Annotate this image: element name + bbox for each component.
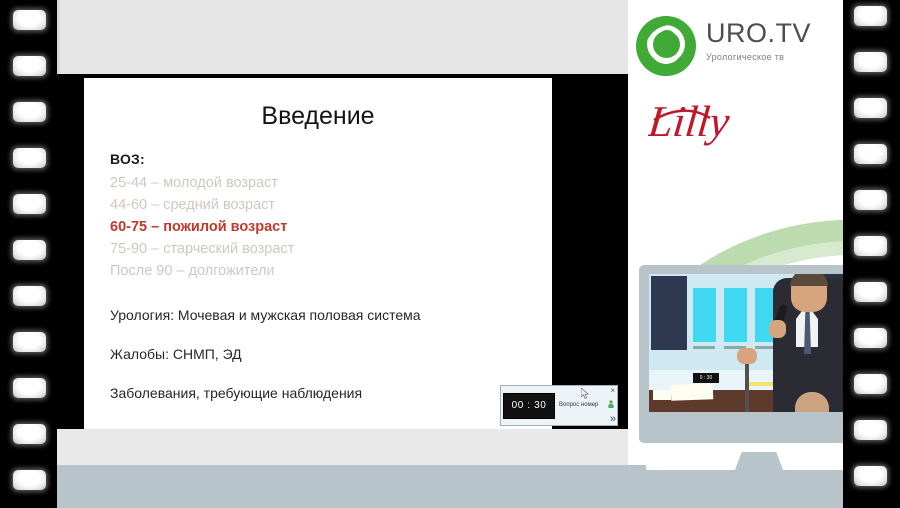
slide-title: Введение	[84, 102, 552, 131]
age-group-line: 75-90 – старческий возраст	[110, 238, 530, 260]
timer-label-area: Вопрос номер	[557, 386, 601, 425]
monitor-stand	[735, 452, 783, 470]
age-group-line: 44-60 – средний возраст	[110, 194, 530, 216]
left-gray-edge	[57, 0, 60, 74]
who-heading: ВОЗ:	[110, 151, 530, 167]
film-perforation	[854, 236, 887, 256]
age-group-line: После 90 – долгожители	[110, 260, 530, 282]
countdown-clock: 00 : 30	[503, 393, 555, 419]
film-perforation	[13, 378, 46, 398]
mouse-cursor-icon	[581, 388, 589, 399]
diseases-line: Заболевания, требующие наблюдения	[110, 385, 530, 401]
film-perforation	[854, 328, 887, 348]
svg-text:Lilly: Lilly	[648, 97, 732, 146]
film-perforation	[13, 194, 46, 214]
uro-tv-wordmark: URO.TV	[706, 20, 811, 47]
projected-timer: 0 : 30	[693, 373, 719, 383]
timer-display-area: 00 : 30	[501, 386, 557, 425]
age-group-line: 25-44 – молодой возраст	[110, 172, 530, 194]
complaints-line: Жалобы: СНМП, ЭД	[110, 346, 530, 362]
film-perforation	[13, 10, 46, 30]
desk-surface	[57, 465, 843, 508]
film-perforation	[13, 286, 46, 306]
timer-widget-controls[interactable]: × »	[601, 386, 617, 425]
video-name-card	[671, 383, 714, 400]
monitor-bezel: 0 : 30	[639, 265, 854, 443]
film-perforation	[854, 98, 887, 118]
video-player-stage: URO.TV Урологическое тв Lilly Введение В…	[0, 0, 900, 508]
film-strip-right	[843, 0, 900, 508]
film-perforation	[13, 332, 46, 352]
film-perforation	[13, 102, 46, 122]
video-pointer-stick	[745, 356, 749, 412]
film-perforation	[13, 148, 46, 168]
presenter-hand-2	[737, 348, 757, 364]
presenter-hair	[790, 274, 828, 286]
uro-tv-tagline: Урологическое тв	[706, 52, 811, 62]
presentation-slide: Введение ВОЗ: 25-44 – молодой возраст 44…	[84, 78, 552, 429]
video-legend-bar	[745, 382, 775, 386]
film-perforation	[854, 144, 887, 164]
film-perforation	[854, 190, 887, 210]
question-number-label: Вопрос номер	[559, 402, 598, 408]
film-perforation	[854, 374, 887, 394]
uro-swirl-icon	[636, 16, 696, 76]
film-perforation	[13, 424, 46, 444]
age-group-line-highlighted: 60-75 – пожилой возраст	[110, 216, 530, 238]
presenter-video[interactable]: 0 : 30	[649, 274, 844, 412]
film-strip-left	[0, 0, 57, 508]
film-perforation	[13, 56, 46, 76]
film-perforation	[13, 240, 46, 260]
video-paper	[653, 390, 671, 400]
person-green-icon[interactable]	[608, 400, 614, 408]
uro-tv-logo: URO.TV Урологическое тв	[636, 14, 842, 80]
film-perforation	[854, 466, 887, 486]
presenter-hand	[769, 320, 786, 338]
film-perforation	[854, 6, 887, 26]
film-perforation	[13, 470, 46, 490]
question-timer-widget[interactable]: 00 : 30 Вопрос номер × »	[500, 385, 618, 426]
slide-body: ВОЗ: 25-44 – молодой возраст 44-60 – сре…	[110, 151, 530, 401]
lilly-logo: Lilly	[648, 90, 828, 152]
film-perforation	[854, 52, 887, 72]
next-chevron-icon[interactable]: »	[610, 414, 616, 425]
close-icon[interactable]: ×	[610, 387, 615, 395]
film-perforation	[854, 282, 887, 302]
film-perforation	[854, 420, 887, 440]
urology-line: Урология: Мочевая и мужская половая сист…	[110, 307, 530, 323]
